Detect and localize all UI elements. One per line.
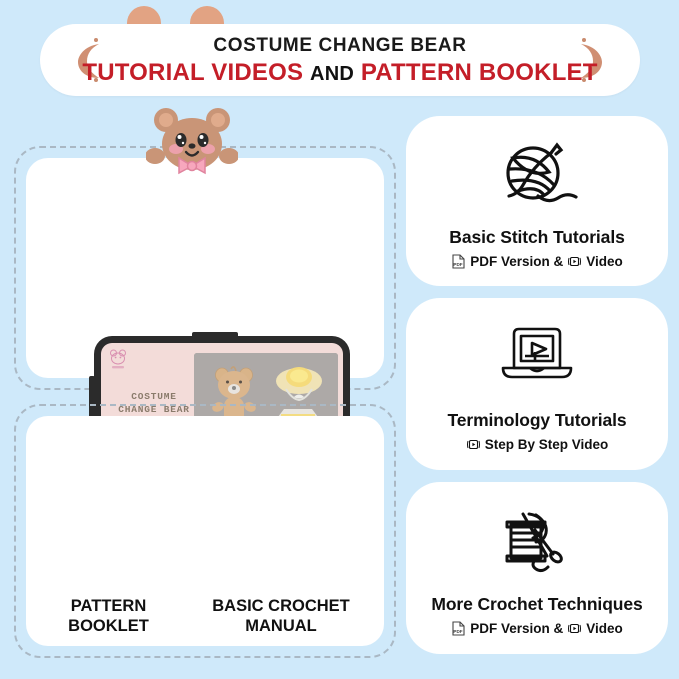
- phone-text-line1: COSTUME: [111, 391, 197, 404]
- pattern-caption-line2: BOOKLET: [26, 616, 191, 636]
- manual-caption-line1: BASIC CROCHET: [191, 596, 371, 616]
- laptop-video-icon: [489, 316, 585, 398]
- title-and: AND: [310, 63, 354, 85]
- brand-logo-icon: [109, 349, 127, 371]
- video-play-icon: [567, 254, 582, 269]
- bear-mascot-icon: [146, 104, 238, 176]
- title-tutorial-videos: TUTORIAL VIDEOS: [82, 59, 303, 86]
- yarn-ball-icon: [489, 133, 585, 215]
- card-terminology-tutorials[interactable]: Terminology Tutorials Step By Step Video: [406, 298, 668, 470]
- card-title: Basic Stitch Tutorials: [449, 227, 624, 248]
- manual-caption: BASIC CROCHET MANUAL: [191, 596, 371, 636]
- manual-caption-line2: MANUAL: [191, 616, 371, 636]
- page-title-bottom: TUTORIAL VIDEOS AND PATTERN BOOKLET: [82, 61, 597, 85]
- video-play-icon: [466, 437, 481, 452]
- card-title: Terminology Tutorials: [447, 410, 626, 431]
- card-subtitle: PDF PDF Version & Video: [451, 254, 623, 269]
- phone-speaker: [192, 332, 238, 338]
- title-banner: COSTUME CHANGE BEAR TUTORIAL VIDEOS AND …: [40, 24, 640, 96]
- card-sub-video-text: Video: [586, 621, 623, 636]
- card-more-crochet-techniques[interactable]: More Crochet Techniques PDF PDF Version …: [406, 482, 668, 654]
- thread-spool-scissors-icon: [489, 500, 585, 582]
- card-sub-video-text: Step By Step Video: [485, 437, 609, 452]
- card-sub-pdf-text: PDF Version &: [470, 621, 563, 636]
- pdf-file-icon: PDF: [451, 621, 466, 636]
- svg-text:PDF: PDF: [454, 262, 463, 267]
- card-sub-video-text: Video: [586, 254, 623, 269]
- page-title-top: COSTUME CHANGE BEAR: [82, 36, 597, 55]
- header-banner: COSTUME CHANGE BEAR TUTORIAL VIDEOS AND …: [0, 0, 679, 110]
- banner-titles: COSTUME CHANGE BEAR TUTORIAL VIDEOS AND …: [82, 36, 597, 85]
- pdf-file-icon: PDF: [451, 254, 466, 269]
- card-subtitle: Step By Step Video: [466, 437, 609, 452]
- pattern-caption-line1: PATTERN: [26, 596, 191, 616]
- video-play-icon: [567, 621, 582, 636]
- card-basic-stitch-tutorials[interactable]: Basic Stitch Tutorials PDF PDF Version &…: [406, 116, 668, 286]
- card-sub-pdf-text: PDF Version &: [470, 254, 563, 269]
- svg-text:PDF: PDF: [454, 629, 463, 634]
- videos-card[interactable]: COSTUME CHANGE BEAR: [26, 158, 384, 378]
- title-pattern-booklet: PATTERN BOOKLET: [361, 59, 598, 86]
- card-title: More Crochet Techniques: [431, 594, 642, 615]
- pattern-booklet-caption: PATTERN BOOKLET: [26, 596, 191, 636]
- infographic-page: COSTUME CHANGE BEAR TUTORIAL VIDEOS AND …: [0, 0, 679, 679]
- card-subtitle: PDF PDF Version & Video: [451, 621, 623, 636]
